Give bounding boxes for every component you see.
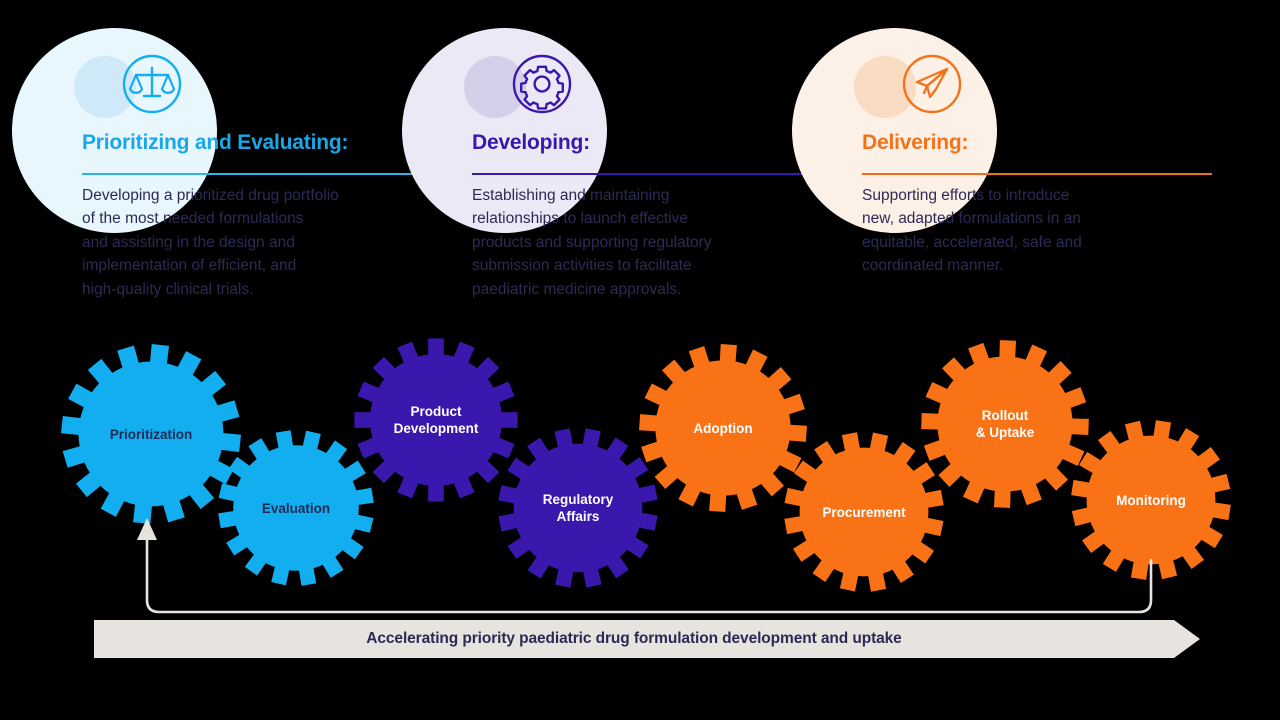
gear-train-graphic (0, 330, 1280, 620)
pillar-divider (862, 173, 1212, 175)
gear-body-product-development (370, 354, 502, 486)
gear-body-adoption (655, 360, 790, 495)
gear-train: PrioritizationEvaluationProduct Developm… (0, 330, 1280, 620)
pillar-title: Prioritizing and Evaluating: (82, 131, 348, 155)
paper-plane-icon (900, 52, 964, 116)
gear-body-prioritization (79, 362, 224, 507)
pillar-developing: Developing: Establishing and maintaining… (402, 0, 812, 330)
infographic-canvas: Prioritizing and Evaluating: Developing … (0, 0, 1280, 720)
gear-body-rollout-and-uptake (937, 356, 1072, 491)
gear-body-regulatory-affairs (514, 444, 643, 573)
pillar-title: Developing: (472, 131, 590, 155)
gear-icon (510, 52, 574, 116)
pillar-prioritizing-and-evaluating: Prioritizing and Evaluating: Developing … (12, 0, 422, 330)
bottom-banner: Accelerating priority paediatric drug fo… (94, 620, 1200, 658)
pillar-divider (472, 173, 802, 175)
pillar-delivering: Delivering: Supporting efforts to introd… (792, 0, 1280, 330)
gear-body-evaluation (233, 445, 359, 571)
pillar-body-text: Supporting efforts to introduce new, ada… (862, 184, 1198, 278)
pillar-body-text: Establishing and maintaining relationshi… (472, 184, 808, 301)
pillar-body-text: Developing a prioritized drug portfolio … (82, 184, 418, 301)
gear-body-monitoring (1087, 436, 1216, 565)
gear-body-procurement (800, 448, 929, 577)
banner-label: Accelerating priority paediatric drug fo… (94, 620, 1174, 658)
pillar-title: Delivering: (862, 131, 968, 155)
scales-icon (120, 52, 184, 116)
pillar-divider (82, 173, 412, 175)
